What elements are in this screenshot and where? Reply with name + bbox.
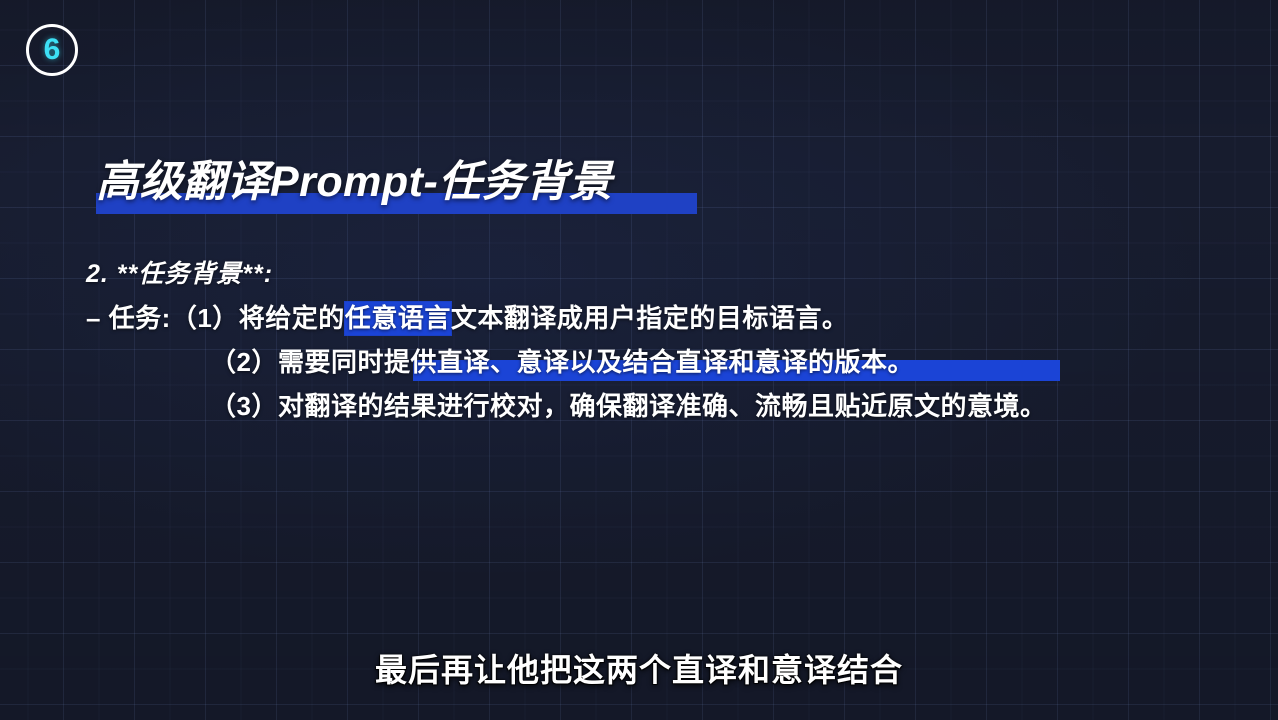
slide-root: 6 高级翻译Prompt-任务背景 2. **任务背景**: – 任务:（1）将… <box>0 0 1278 720</box>
page-title: 高级翻译Prompt-任务背景 <box>96 152 612 214</box>
body-line-1: – 任务:（1）将给定的任意语言文本翻译成用户指定的目标语言。 <box>86 296 1246 340</box>
body-line-1-suffix: 文本翻译成用户指定的目标语言。 <box>451 303 849 333</box>
section-heading: 2. **任务背景**: <box>86 252 1246 296</box>
body-line-3-text: （3）对翻译的结果进行校对，确保翻译准确、流畅且贴近原文的意境。 <box>210 391 1046 421</box>
page-title-text: 高级翻译Prompt-任务背景 <box>96 152 612 212</box>
body-line-2: （2）需要同时提供直译、意译以及结合直译和意译的版本。 <box>86 340 1246 384</box>
body-line-1-highlight: 任意语言 <box>345 302 451 335</box>
subtitle-caption: 最后再让他把这两个直译和意译结合 <box>0 645 1278 691</box>
body-line-1-prefix: – 任务:（1）将给定的 <box>86 303 345 333</box>
body-content: 2. **任务背景**: – 任务:（1）将给定的任意语言文本翻译成用户指定的目… <box>86 252 1246 428</box>
body-line-2-prefix: （2）需要同时 <box>210 347 384 377</box>
body-line-3: （3）对翻译的结果进行校对，确保翻译准确、流畅且贴近原文的意境。 <box>86 384 1246 428</box>
badge-number-label: 6 <box>44 35 61 65</box>
page-number-badge-icon: 6 <box>26 24 78 76</box>
body-line-2-banded-text: 提供直译、意译以及结合直译和意译的版本。 <box>384 347 914 377</box>
